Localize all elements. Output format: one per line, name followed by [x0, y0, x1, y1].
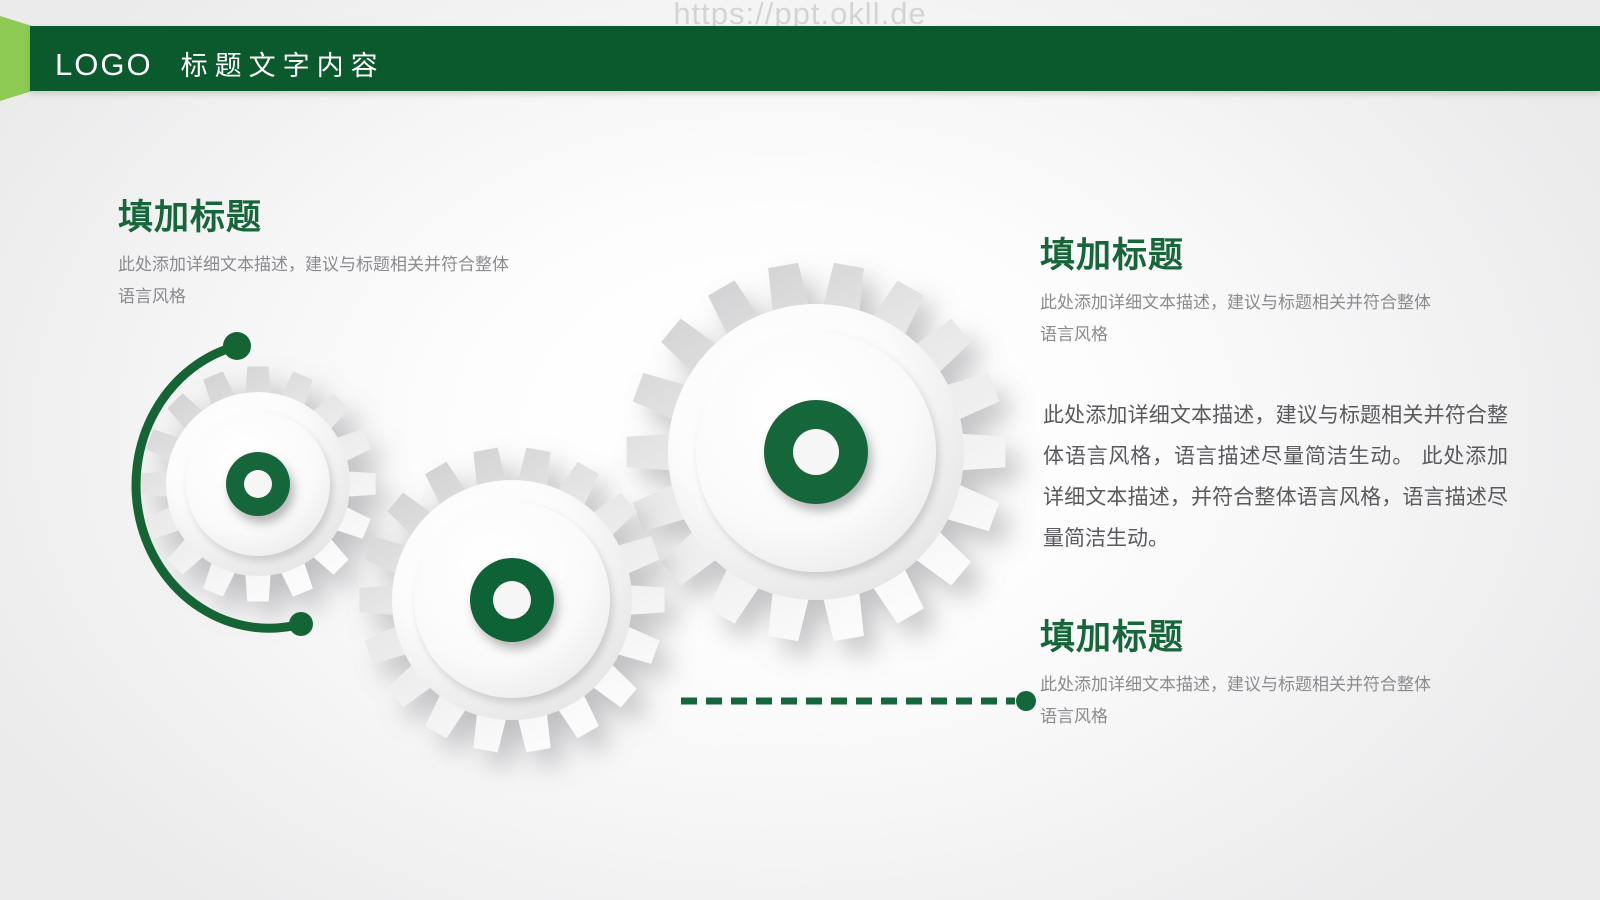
- block-right-bottom-body: 此处添加详细文本描述，建议与标题相关并符合整体语言风格: [1040, 670, 1440, 733]
- text-block-right-top: 填加标题 此处添加详细文本描述，建议与标题相关并符合整体语言风格: [1040, 236, 1440, 351]
- progress-arc: [90, 310, 350, 660]
- dashed-connector: [675, 686, 1040, 716]
- logo-text: LOGO: [55, 47, 153, 83]
- block-left-body: 此处添加详细文本描述，建议与标题相关并符合整体语言风格: [118, 250, 518, 313]
- text-block-paragraph: 此处添加详细文本描述，建议与标题相关并符合整体语言风格，语言描述尽量简洁生动。 …: [1043, 395, 1508, 559]
- block-right-top-title: 填加标题: [1040, 236, 1440, 276]
- header-text-group: LOGO 标题文字内容: [55, 44, 385, 83]
- arc-dot-start: [223, 332, 251, 360]
- text-block-right-bottom: 填加标题 此处添加详细文本描述，建议与标题相关并符合整体语言风格: [1040, 618, 1440, 733]
- block-right-bottom-title: 填加标题: [1040, 618, 1440, 658]
- gear-large: [627, 263, 1006, 641]
- text-block-left: 填加标题 此处添加详细文本描述，建议与标题相关并符合整体语言风格: [118, 198, 518, 313]
- header-ribbon-tail: [0, 16, 32, 101]
- connector-dot: [1016, 691, 1036, 711]
- gear-medium: [359, 448, 664, 753]
- block-right-top-body: 此处添加详细文本描述，建议与标题相关并符合整体语言风格: [1040, 288, 1440, 351]
- slide-canvas: https://ppt.okll.de: [0, 0, 1600, 900]
- arc-dot-end: [289, 612, 313, 636]
- block-left-title: 填加标题: [118, 198, 518, 238]
- page-title: 标题文字内容: [181, 44, 385, 83]
- paragraph-body: 此处添加详细文本描述，建议与标题相关并符合整体语言风格，语言描述尽量简洁生动。 …: [1043, 395, 1508, 559]
